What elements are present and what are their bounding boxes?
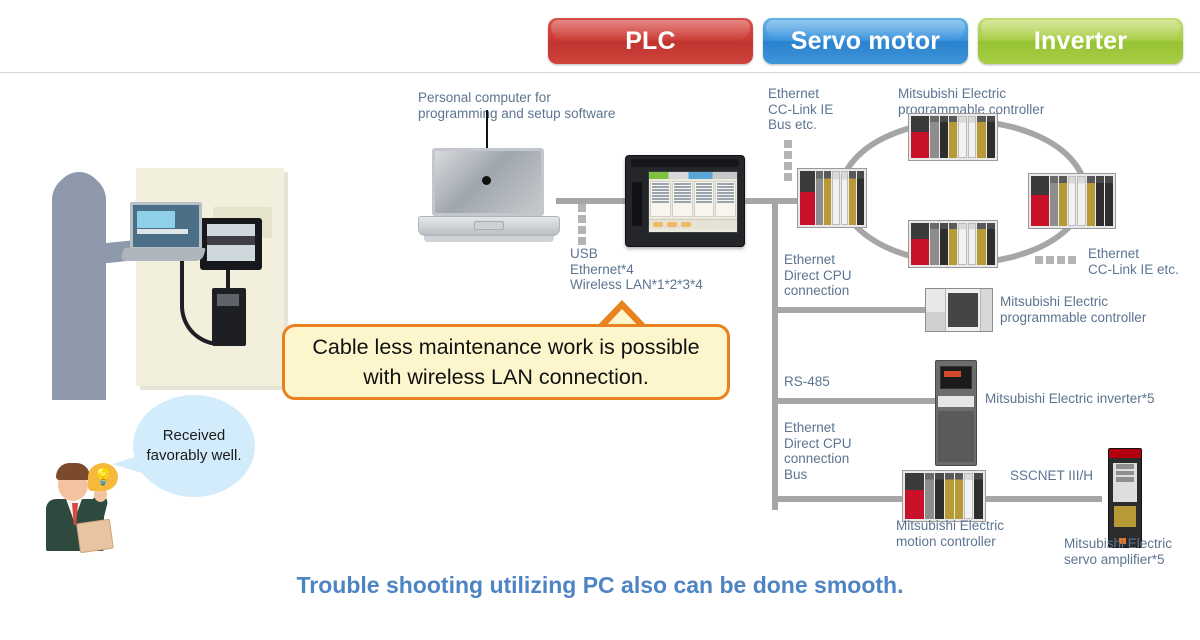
personal-computer-graphic	[418, 148, 560, 244]
plc-rack-top	[908, 113, 998, 161]
lightbulb-icon: 💡	[88, 463, 118, 491]
engineer-laptop-graphic	[122, 202, 204, 264]
branch-3-device2-label: Mitsubishi Electric servo amplifier*5	[1064, 536, 1172, 567]
header-divider	[0, 72, 1200, 73]
pc-label: Personal computer for programming and se…	[418, 90, 615, 121]
wire-pc-to-hmi	[556, 198, 628, 204]
plc-rack-right	[1028, 173, 1116, 229]
bus-trunk-vertical	[772, 198, 778, 510]
pill-servo-motor[interactable]: Servo motor	[763, 18, 968, 64]
hmi-side-port	[632, 182, 642, 226]
pc-front-edge	[424, 236, 554, 242]
motion-controller-rack	[902, 470, 986, 522]
businessman-clipboard	[76, 519, 114, 553]
wire-hmi-to-trunk	[745, 198, 797, 204]
wireless-link-indicator	[578, 204, 586, 245]
wireless-indicator-ring-right	[1035, 256, 1076, 264]
pill-plc[interactable]: PLC	[548, 18, 753, 64]
compact-plc-graphic	[925, 288, 993, 332]
businessman-hair	[56, 463, 90, 480]
engineer-head-silhouette	[54, 172, 104, 228]
branch-3-device-label: Mitsubishi Electric motion controller	[896, 518, 1004, 549]
wire-branch-1	[772, 307, 932, 313]
ring-right-label: Ethernet CC-Link IE etc.	[1088, 246, 1179, 277]
inverter-graphic	[935, 360, 977, 466]
branch-2-protocol-label: RS-485	[784, 374, 830, 390]
branch-3-protocol-label: Ethernet Direct CPU connection Bus	[784, 420, 852, 482]
wireless-callout: Cable less maintenance work is possible …	[282, 324, 730, 400]
cabinet-cable-drop-graphic	[226, 268, 230, 290]
speech-bubble: Received favorably well.	[133, 395, 255, 497]
cabinet-inverter-graphic	[212, 288, 246, 346]
pc-leader-dot	[482, 176, 491, 185]
connection-methods-label: USB Ethernet*4 Wireless LAN*1*2*3*4	[570, 246, 703, 293]
pc-trackpad	[474, 221, 504, 230]
hmi-screen-header	[649, 172, 737, 179]
bottom-caption: Trouble shooting utilizing PC also can b…	[0, 572, 1200, 599]
sscnet-link-label: SSCNET III/H	[1010, 468, 1093, 484]
hmi-screen	[648, 171, 738, 233]
speech-bubble-text: Received favorably well.	[133, 426, 255, 466]
hmi-display-graphic	[625, 155, 745, 247]
plc-rack-left	[797, 168, 867, 228]
engineer-illustration	[40, 120, 290, 400]
servo-amplifier-graphic	[1108, 448, 1142, 548]
wireless-indicator-top	[784, 140, 792, 181]
hmi-bezel-top	[631, 159, 739, 167]
category-pill-bar: PLC Servo motor Inverter	[548, 18, 1183, 64]
businessman-illustration: 💡	[38, 455, 124, 551]
branch-1-protocol-label: Ethernet Direct CPU connection	[784, 252, 852, 299]
branch-1-device-label: Mitsubishi Electric programmable control…	[1000, 294, 1146, 325]
branch-2-device-label: Mitsubishi Electric inverter*5	[985, 391, 1155, 407]
pill-inverter[interactable]: Inverter	[978, 18, 1183, 64]
callout-text: Cable less maintenance work is possible …	[295, 332, 717, 392]
plc-rack-bottom	[908, 220, 998, 268]
network-top-left-label: Ethernet CC-Link IE Bus etc.	[768, 86, 833, 133]
pc-leader-line	[486, 110, 488, 150]
cabinet-hmi-graphic	[200, 218, 262, 270]
hmi-screen-columns	[649, 179, 737, 219]
wire-branch-2	[772, 398, 942, 404]
hmi-screen-footer	[649, 219, 737, 229]
